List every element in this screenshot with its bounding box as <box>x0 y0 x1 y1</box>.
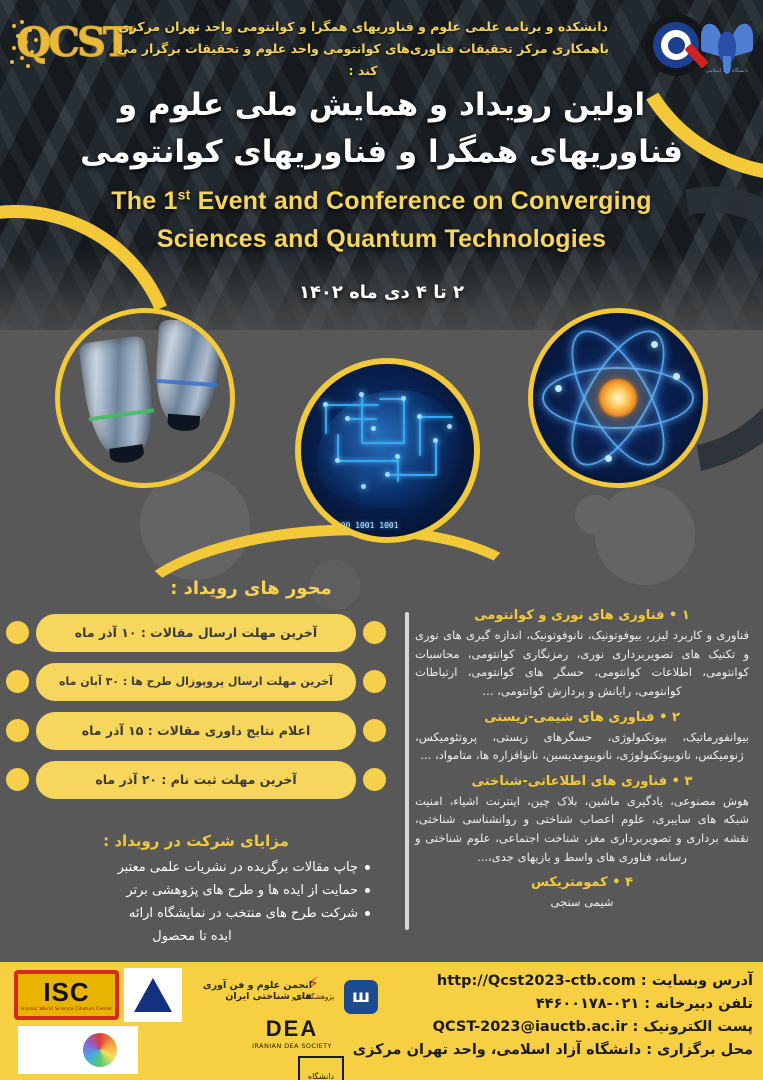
bullet-dot-icon <box>363 621 386 644</box>
phone-value: ۰۲۱-۴۴۶۰۰۱۷۸ <box>536 996 639 1012</box>
atom-image <box>528 308 708 488</box>
deadline-row: آخرین مهلت ثبت نام : ۲۰ آذر ماه <box>0 759 392 800</box>
topic-bullet: • <box>659 710 667 725</box>
email-value[interactable]: QCST-2023@iauctb.ac.ir <box>433 1019 628 1035</box>
atom-photo <box>533 313 703 483</box>
topic-bullet: • <box>672 774 680 789</box>
benefit-text: شرکت طرح های منتخب در نمایشگاه ارائه <box>129 906 358 921</box>
pixel-dots-icon <box>10 20 56 68</box>
topic-title: ۱ • فناوری های نوری و کوانتومی <box>415 608 749 623</box>
title-fa-line-2: فناوریهای همگرا و فناوریهای کوانتومی <box>0 129 763 176</box>
binary-digits: 0110 0100 1001 1001 <box>307 521 399 531</box>
top-right-logos: دانشگاه آزاد اسلامی <box>635 8 755 90</box>
deadlines-list: آخرین مهلت ارسال مقالات : ۱۰ آذر ماه آخر… <box>0 612 392 808</box>
deadline-pill: اعلام نتایج داوری مقالات : ۱۵ آذر ماه <box>36 712 356 750</box>
benefit-text: چاپ مقالات برگزیده در نشریات علمی معتبر <box>117 860 358 875</box>
decorative-circle <box>595 485 695 585</box>
organizer-line-2: باهمکاری مرکز تحقیقات فناوری‌های کوانتوم… <box>113 38 613 82</box>
email-label: پست الکترونیک : <box>633 1019 753 1035</box>
topics-heading: محور های رویداد : <box>121 578 381 599</box>
deadline-pill: آخرین مهلت ارسال مقالات : ۱۰ آذر ماه <box>36 614 356 652</box>
venue-value: دانشگاه آزاد اسلامی، واحد تهران مرکزی <box>353 1042 641 1058</box>
topic-number: ۳ <box>685 774 693 789</box>
topic-label: فناوری های شیمی-زیستی <box>484 710 654 725</box>
title-en-line-2: Sciences and Quantum Technologies <box>0 220 763 258</box>
venue-label: محل برگزاری : <box>646 1042 753 1058</box>
title-en-ordinal: st <box>178 187 191 203</box>
cognitive-society-caption: انجمن علوم و فن آوری های شناختی ایران <box>182 980 312 1002</box>
title-en-rest: Event and Conference on Converging <box>190 187 651 215</box>
contact-info: آدرس وبسایت : http://Qcst2023-ctb.com تل… <box>363 970 753 1062</box>
benefit-continuation: ایده تا محصول <box>14 925 370 948</box>
atom-nucleus <box>597 377 639 419</box>
topic-bullet: • <box>669 608 677 623</box>
logo-ring-inner <box>668 37 685 54</box>
lens-tip <box>167 414 200 432</box>
dea-logo-text: DEA <box>266 1018 318 1040</box>
title-en-prefix: The 1 <box>111 187 177 215</box>
benefit-text: حمایت از ایده ها و طرح های پژوهشی برتر <box>126 883 358 898</box>
footer-bar: ISC Islamic World Science Citation Cente… <box>0 962 763 1080</box>
azad-logo-caption: دانشگاه آزاد اسلامی <box>703 68 751 74</box>
isc-logo: ISC Islamic World Science Citation Cente… <box>14 970 119 1020</box>
page-title-farsi: اولین رویداد و همایش ملی علوم و فناوریها… <box>0 82 763 176</box>
topic-number: ۱ <box>682 608 690 623</box>
bullet-icon <box>365 888 370 893</box>
deadline-row: آخرین مهلت ارسال پروپوزال طرح ها : ۳۰ آب… <box>0 661 392 702</box>
isc-logo-text: ISC <box>43 979 89 1005</box>
topic-bullet: • <box>612 875 620 890</box>
topic-number: ۴ <box>625 875 633 890</box>
logo-ring-middle <box>661 30 691 60</box>
topic-body: شیمی سنجی <box>415 893 749 912</box>
objective-lens-icon <box>78 335 160 461</box>
benefit-item: چاپ مقالات برگزیده در نشریات علمی معتبر <box>14 856 370 879</box>
qcst-circular-logo <box>645 14 707 76</box>
topic-title: ۲ • فناوری های شیمی-زیستی <box>415 710 749 725</box>
benefits-heading: مزایای شرکت در رویداد : <box>0 832 392 850</box>
topic-number: ۲ <box>672 710 680 725</box>
bullet-icon <box>365 865 370 870</box>
institute-name <box>39 1046 42 1055</box>
sponsor-logos: ISC Islamic World Science Citation Cente… <box>4 964 344 1078</box>
topic-body: بیوانفورماتیک، بیوتکنولوژی، حسگرهای زیست… <box>415 728 749 765</box>
lens-band <box>155 379 217 387</box>
bullet-dot-icon <box>6 670 29 693</box>
topic-body: فناوری و کاربرد لیزر، بیوفوتونیک، نانوفو… <box>415 626 749 701</box>
bullet-dot-icon <box>6 719 29 742</box>
topic-body: هوش مصنوعی، یادگیری ماشین، بلاک چین، این… <box>415 792 749 867</box>
bullet-dot-icon <box>363 768 386 791</box>
benefit-item: حمایت از ایده ها و طرح های پژوهشی برتر <box>14 879 370 902</box>
triangle-icon <box>134 978 172 1012</box>
topic-item: ۱ • فناوری های نوری و کوانتومی فناوری و … <box>415 608 749 701</box>
organizer-line-1: دانشکده و برنامه علمی علوم و فناوریهای ه… <box>113 16 613 38</box>
email-line: پست الکترونیک : QCST-2023@iauctb.ac.ir <box>363 1016 753 1039</box>
deadline-row: اعلام نتایج داوری مقالات : ۱۵ آذر ماه <box>0 710 392 751</box>
objective-lens-icon <box>152 319 221 427</box>
brain-glow <box>317 390 467 508</box>
website-value[interactable]: http://Qcst2023-ctb.com <box>437 973 636 989</box>
decorative-circle <box>575 495 615 535</box>
website-line: آدرس وبسایت : http://Qcst2023-ctb.com <box>363 970 753 993</box>
secondary-institute-logo <box>18 1026 138 1074</box>
bullet-dot-icon <box>363 670 386 693</box>
phone-line: تلفن دبیرخانه : ۰۲۱-۴۴۶۰۰۱۷۸ <box>363 993 753 1016</box>
topic-label: فناوری های نوری و کوانتومی <box>474 608 664 623</box>
topic-title: ۳ • فناوری های اطلاعاتی-شناختی <box>415 774 749 789</box>
bullet-dot-icon <box>363 719 386 742</box>
conference-poster: QCST دانشکده و برنامه علمی علوم و فناوری… <box>0 0 763 1080</box>
microscope-photo <box>60 313 230 483</box>
deadline-pill: آخرین مهلت ارسال پروپوزال طرح ها : ۳۰ آب… <box>36 663 356 701</box>
topic-label: فناوری های اطلاعاتی-شناختی <box>472 774 668 789</box>
deadline-row: آخرین مهلت ارسال مقالات : ۱۰ آذر ماه <box>0 612 392 653</box>
bullet-dot-icon <box>6 621 29 644</box>
rainbow-circle-icon <box>83 1033 117 1067</box>
dea-logo-subtitle: IRANIAN DEA SOCIETY <box>252 1042 332 1050</box>
event-date: ۲ تا ۴ دی ماه ۱۴۰۲ <box>0 282 763 303</box>
circuit-brain-photo: 0110 0100 1001 1001 <box>301 364 474 537</box>
cognitive-society-logo <box>124 968 182 1022</box>
topic-title: ۴ • کمومتریکس <box>415 875 749 890</box>
phone-label: تلفن دبیرخانه : <box>644 996 753 1012</box>
microscope-image <box>55 308 235 488</box>
bullet-icon <box>365 911 370 916</box>
website-label: آدرس وبسایت : <box>641 973 753 989</box>
topic-label: کمومتریکس <box>531 875 608 890</box>
shahid-beheshti-logo: دانشگاه شهید بهشتی <box>298 1056 344 1080</box>
lens-band <box>88 408 154 421</box>
topic-item: ۳ • فناوری های اطلاعاتی-شناختی هوش مصنوع… <box>415 774 749 867</box>
topics-list: ۱ • فناوری های نوری و کوانتومی فناوری و … <box>403 608 763 921</box>
topic-item: ۲ • فناوری های شیمی-زیستی بیوانفورماتیک،… <box>415 710 749 765</box>
isc-logo-subtitle: Islamic World Science Citation Center <box>21 1007 113 1012</box>
lens-tip <box>109 444 145 465</box>
benefit-item: شرکت طرح های منتخب در نمایشگاه ارائه <box>14 902 370 925</box>
deadline-pill: آخرین مهلت ثبت نام : ۲۰ آذر ماه <box>36 761 356 799</box>
venue-line: محل برگزاری : دانشگاه آزاد اسلامی، واحد … <box>363 1039 753 1062</box>
circuit-brain-image: 0110 0100 1001 1001 <box>295 358 480 543</box>
title-fa-line-1: اولین رویداد و همایش ملی علوم و <box>0 82 763 129</box>
dea-society-logo: DEA IRANIAN DEA SOCIETY <box>240 1012 344 1056</box>
title-en-line-1: The 1st Event and Conference on Convergi… <box>0 182 763 220</box>
benefits-list: چاپ مقالات برگزیده در نشریات علمی معتبر … <box>0 856 392 949</box>
bullet-dot-icon <box>6 768 29 791</box>
page-title-english: The 1st Event and Conference on Convergi… <box>0 182 763 258</box>
topic-item: ۴ • کمومتریکس شیمی سنجی <box>415 875 749 912</box>
organizer-text: دانشکده و برنامه علمی علوم و فناوریهای ه… <box>113 16 613 82</box>
